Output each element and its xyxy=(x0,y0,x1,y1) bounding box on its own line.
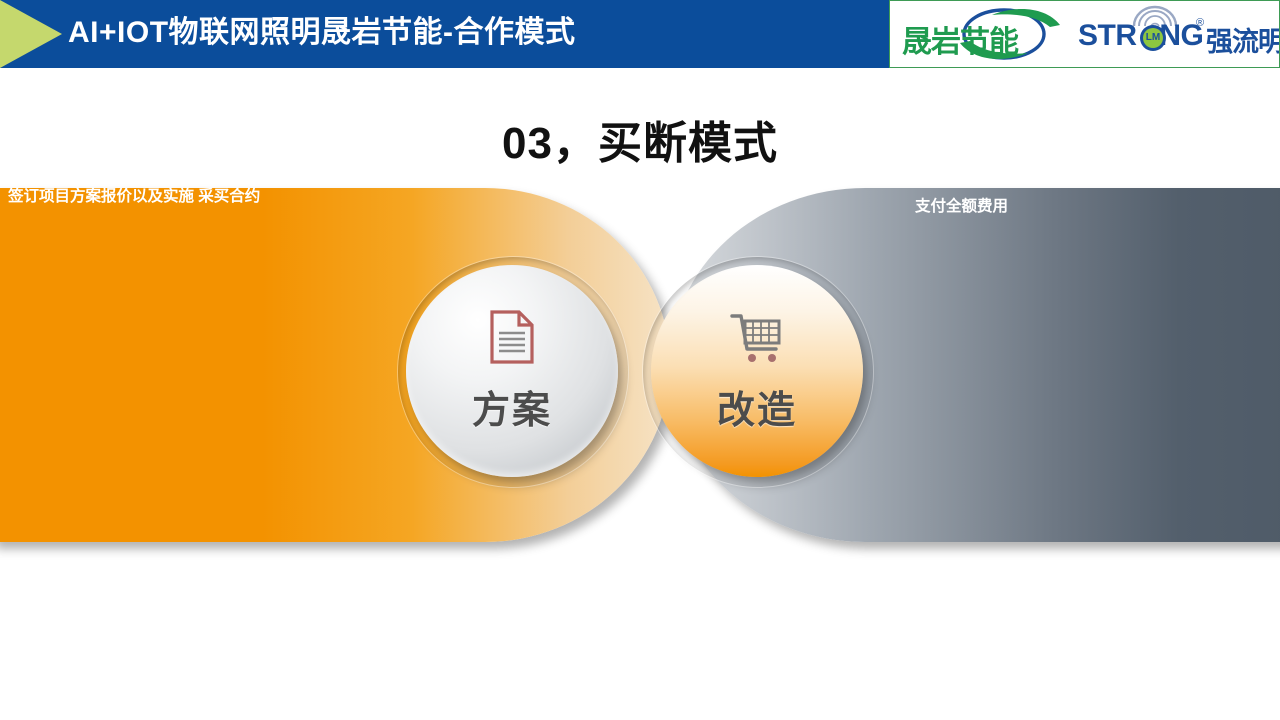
badge-renovation-label: 改造 xyxy=(717,379,797,434)
right-text-line-3: 项目改造实施 xyxy=(915,162,1235,192)
left-text-line-2: 晟岩公司提供一站式托管服务 xyxy=(8,122,353,152)
document-icon xyxy=(489,309,535,365)
content-panels xyxy=(0,188,1280,548)
logo-tagline-cn: 强流明照明 xyxy=(1206,20,1280,59)
logo-brand-cn: 晟岩节能 xyxy=(902,17,1018,61)
registered-trademark-icon: ® xyxy=(1196,17,1204,29)
logo-shengyan-lockup: 晟岩节能 xyxy=(896,3,1076,65)
logo-brand-en-prefix: STR xyxy=(1078,19,1137,52)
shopping-cart-icon xyxy=(729,309,785,365)
left-text-line-1: 用能单位“全额支付” xyxy=(8,92,353,122)
header-bar: AI+IOT物联网照明晟岩节能-合作模式 晟岩节能 STRONG LM ® 强 xyxy=(0,0,1280,68)
left-text-line-4: 签订项目方案报价以及实施 采买合约 xyxy=(8,182,353,212)
badge-renovation-ring xyxy=(642,256,874,488)
logo-strong-lockup: STRONG LM ® 强流明照明 xyxy=(1078,3,1274,65)
logo-lm-badge: LM xyxy=(1140,25,1166,51)
right-text-line-1: 测试，方案预算 xyxy=(915,102,1235,132)
header-title: AI+IOT物联网照明晟岩节能-合作模式 xyxy=(68,0,576,68)
right-text-line-2: 合约签订。（投标）公式 xyxy=(915,132,1235,162)
left-panel-text: 用能单位“全额支付” 晟岩公司提供一站式托管服务 含照明设备、物联网系统、更换照… xyxy=(8,92,353,212)
left-text-line-3: 含照明设备、物联网系统、更换照明设备 xyxy=(8,152,353,182)
badge-renovation[interactable]: 改造 xyxy=(651,265,863,477)
badge-scheme-ring xyxy=(397,256,629,488)
badge-scheme[interactable]: 方案 xyxy=(406,265,618,477)
company-logo: 晟岩节能 STRONG LM ® 强流明照明 xyxy=(889,0,1280,68)
right-text-line-4: 支付全额费用 xyxy=(915,192,1235,222)
right-panel-text: 测试，方案预算 合约签订。（投标）公式 项目改造实施 支付全额费用 xyxy=(915,102,1235,222)
badge-scheme-label: 方案 xyxy=(472,379,552,434)
logo-lm-text: LM xyxy=(1143,28,1163,48)
